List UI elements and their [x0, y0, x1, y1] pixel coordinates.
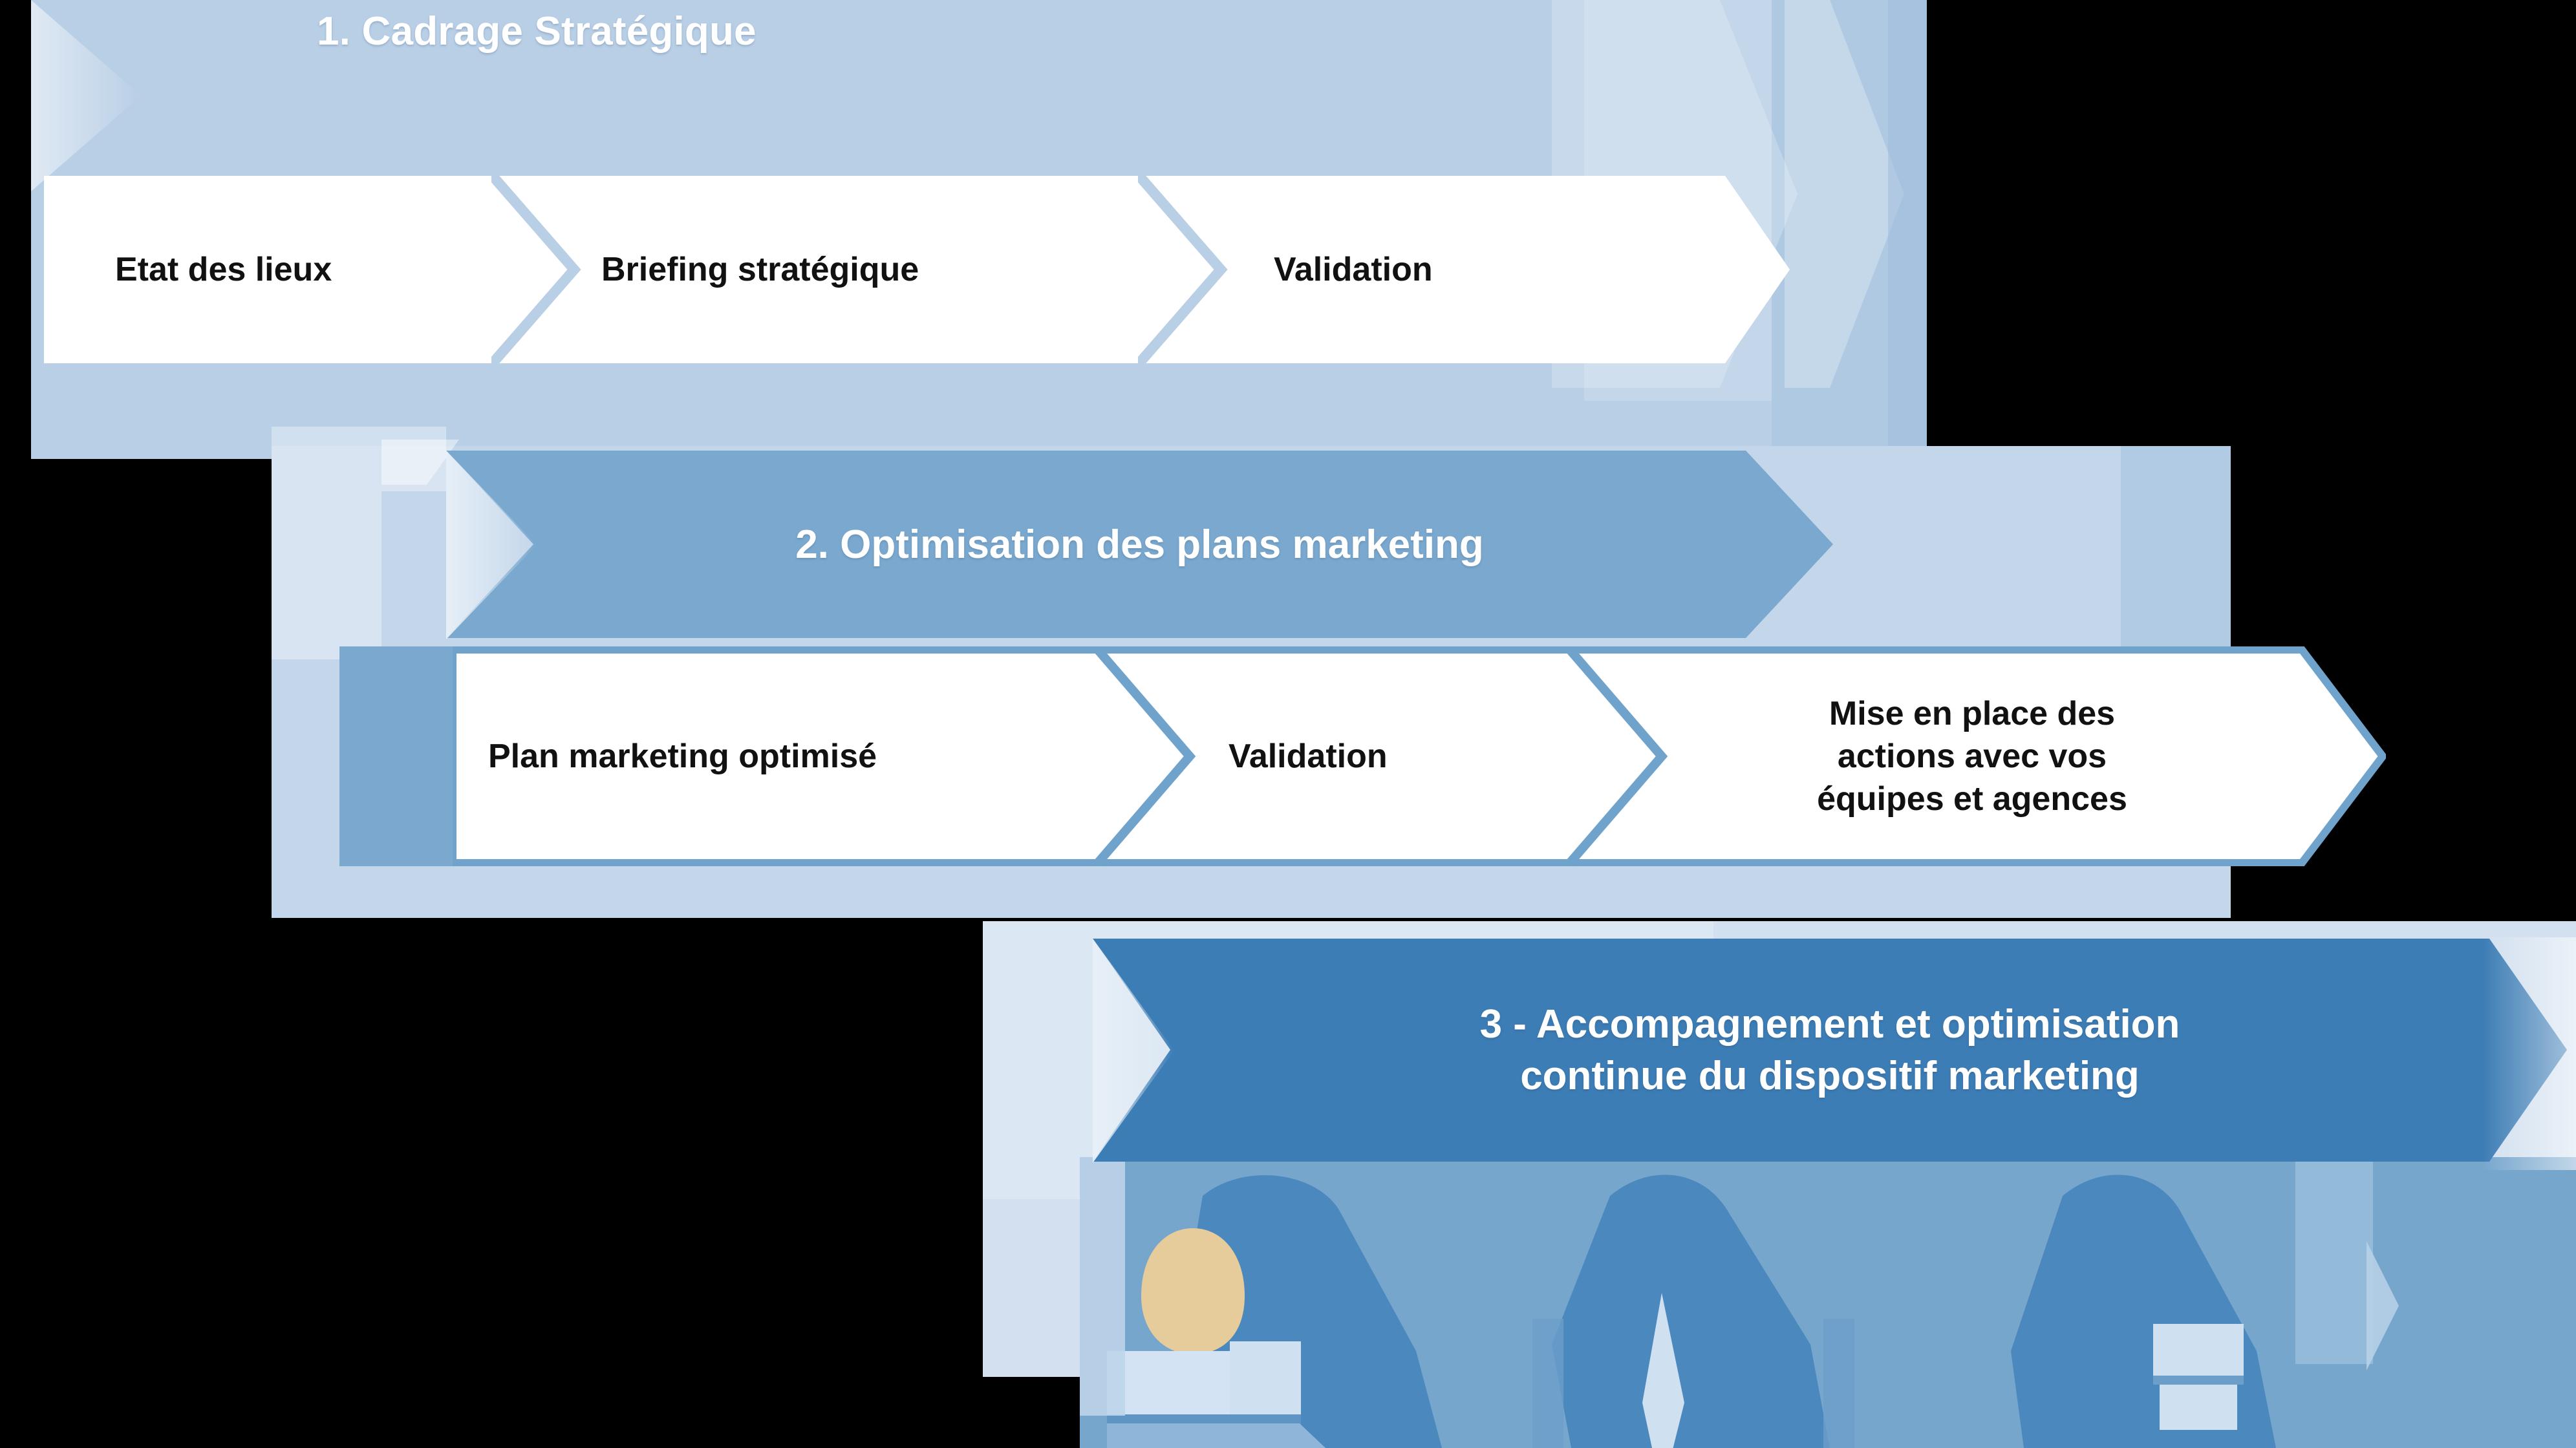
band-3-illustration-panel	[1080, 1157, 2576, 1448]
band-1-step-2-label: Briefing stratégique	[601, 250, 919, 289]
band-1-step-3[interactable]: Validation	[1274, 176, 1636, 363]
band-2-step-2-label: Validation	[1229, 737, 1388, 776]
band-2-step-1[interactable]: Plan marketing optimisé	[466, 646, 1109, 866]
band-3-header-line-2: continue du dispositif marketing	[1520, 1050, 2140, 1102]
people-silhouettes-icon	[1080, 1157, 2576, 1448]
band-1-step-3-label: Validation	[1274, 250, 1433, 289]
band-2-step-2[interactable]: Validation	[1229, 646, 1591, 866]
band-2-left-rail	[339, 646, 453, 866]
band-1-header-title: 1. Cadrage Stratégique	[317, 9, 1545, 54]
band-2-step-3[interactable]: Mise en place des actions avec vos équip…	[1694, 646, 2250, 866]
band-3-header-title: 3 - Accompagnement et optimisation conti…	[1093, 939, 2567, 1162]
diagram-canvas: 1. Cadrage Stratégique Etat des lieux Br…	[0, 0, 2576, 1448]
band-2-header-title: 2. Optimisation des plans marketing	[446, 451, 1833, 638]
band-1-backplate-edge	[1772, 0, 1927, 452]
band-1-step-1-label: Etat des lieux	[115, 250, 332, 289]
band-1-step-2[interactable]: Briefing stratégique	[601, 176, 1093, 363]
band-1-step-1[interactable]: Etat des lieux	[115, 176, 425, 363]
band-2-step-3-label: Mise en place des actions avec vos équip…	[1817, 692, 2127, 820]
band-3-header-line-1: 3 - Accompagnement et optimisation	[1480, 999, 2180, 1050]
band-2-step-1-label: Plan marketing optimisé	[488, 737, 877, 776]
